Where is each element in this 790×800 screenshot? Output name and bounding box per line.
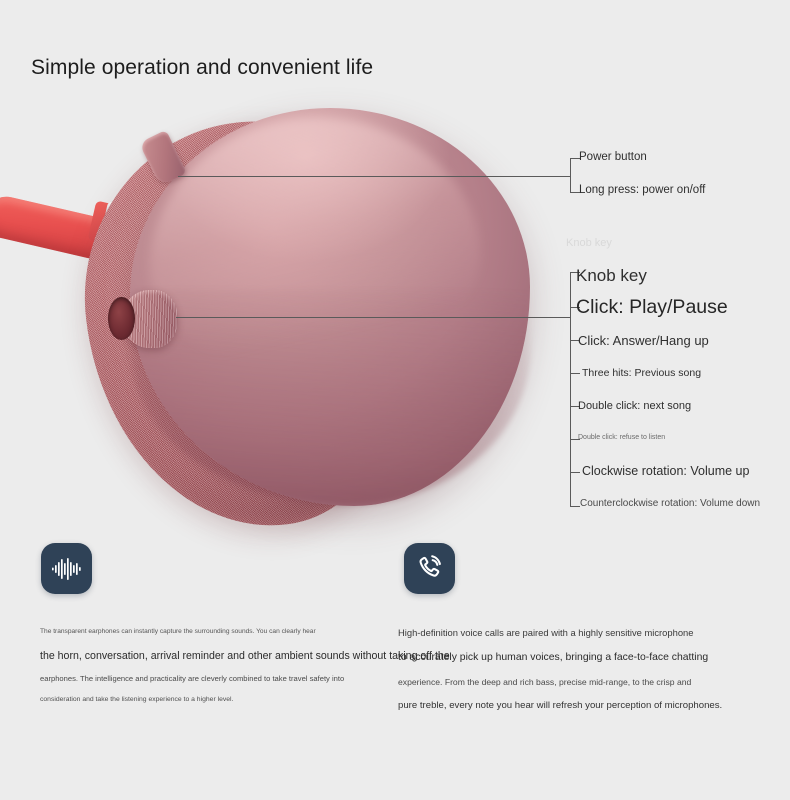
paragraph-line: the horn, conversation, arrival reminder…: [40, 651, 450, 662]
paragraph-line: The transparent earphones can instantly …: [40, 629, 450, 636]
callout-knob-counterclockwise: Counterclockwise rotation: Volume down: [580, 499, 760, 509]
leader-tick-counterclockwise: [570, 506, 580, 507]
callout-knob-double-click-next: Double click: next song: [578, 401, 691, 412]
paragraph-line: pure treble, every note you hear will re…: [398, 701, 722, 711]
callout-knob-three-hits: Three hits: Previous song: [582, 368, 701, 379]
callout-knob-answer-hangup: Click: Answer/Hang up: [578, 334, 709, 347]
callout-knob-clockwise: Clockwise rotation: Volume up: [582, 465, 749, 478]
paragraph-line: High-definition voice calls are paired w…: [398, 628, 722, 637]
page-title: Simple operation and convenient life: [31, 56, 373, 80]
callout-knob-title: Knob key: [576, 267, 647, 284]
leader-line-power: [178, 176, 570, 177]
leader-line-knob: [176, 317, 570, 318]
paragraph-line: earphones. The intelligence and practica…: [40, 675, 450, 683]
product-illustration: [0, 100, 600, 530]
feature-description-left: The transparent earphones can instantly …: [40, 629, 450, 704]
callout-knob-double-click-refuse: Double click: refuse to listen: [578, 434, 665, 441]
knob-key-face: [108, 297, 135, 340]
callout-knob-play-pause: Click: Play/Pause: [576, 298, 728, 318]
callout-power-title: Power button: [579, 152, 647, 164]
leader-tick-three-hits: [570, 373, 580, 374]
phone-call-icon: [404, 543, 455, 594]
paragraph-line: experience. From the deep and rich bass,…: [398, 678, 722, 687]
callout-power-longpress: Long press: power on/off: [579, 185, 705, 197]
callout-ghost-artifact: Knob key: [566, 238, 612, 249]
paragraph-line: to accurately pick up human voices, brin…: [398, 653, 722, 663]
leader-tick-clockwise: [570, 472, 580, 473]
leader-bracket-power: [570, 158, 571, 193]
audio-waveform-icon: [41, 543, 92, 594]
infographic-page: Simple operation and convenient life Pow…: [0, 0, 790, 800]
feature-description-right: High-definition voice calls are paired w…: [398, 628, 722, 711]
paragraph-line: consideration and take the listening exp…: [40, 697, 450, 704]
